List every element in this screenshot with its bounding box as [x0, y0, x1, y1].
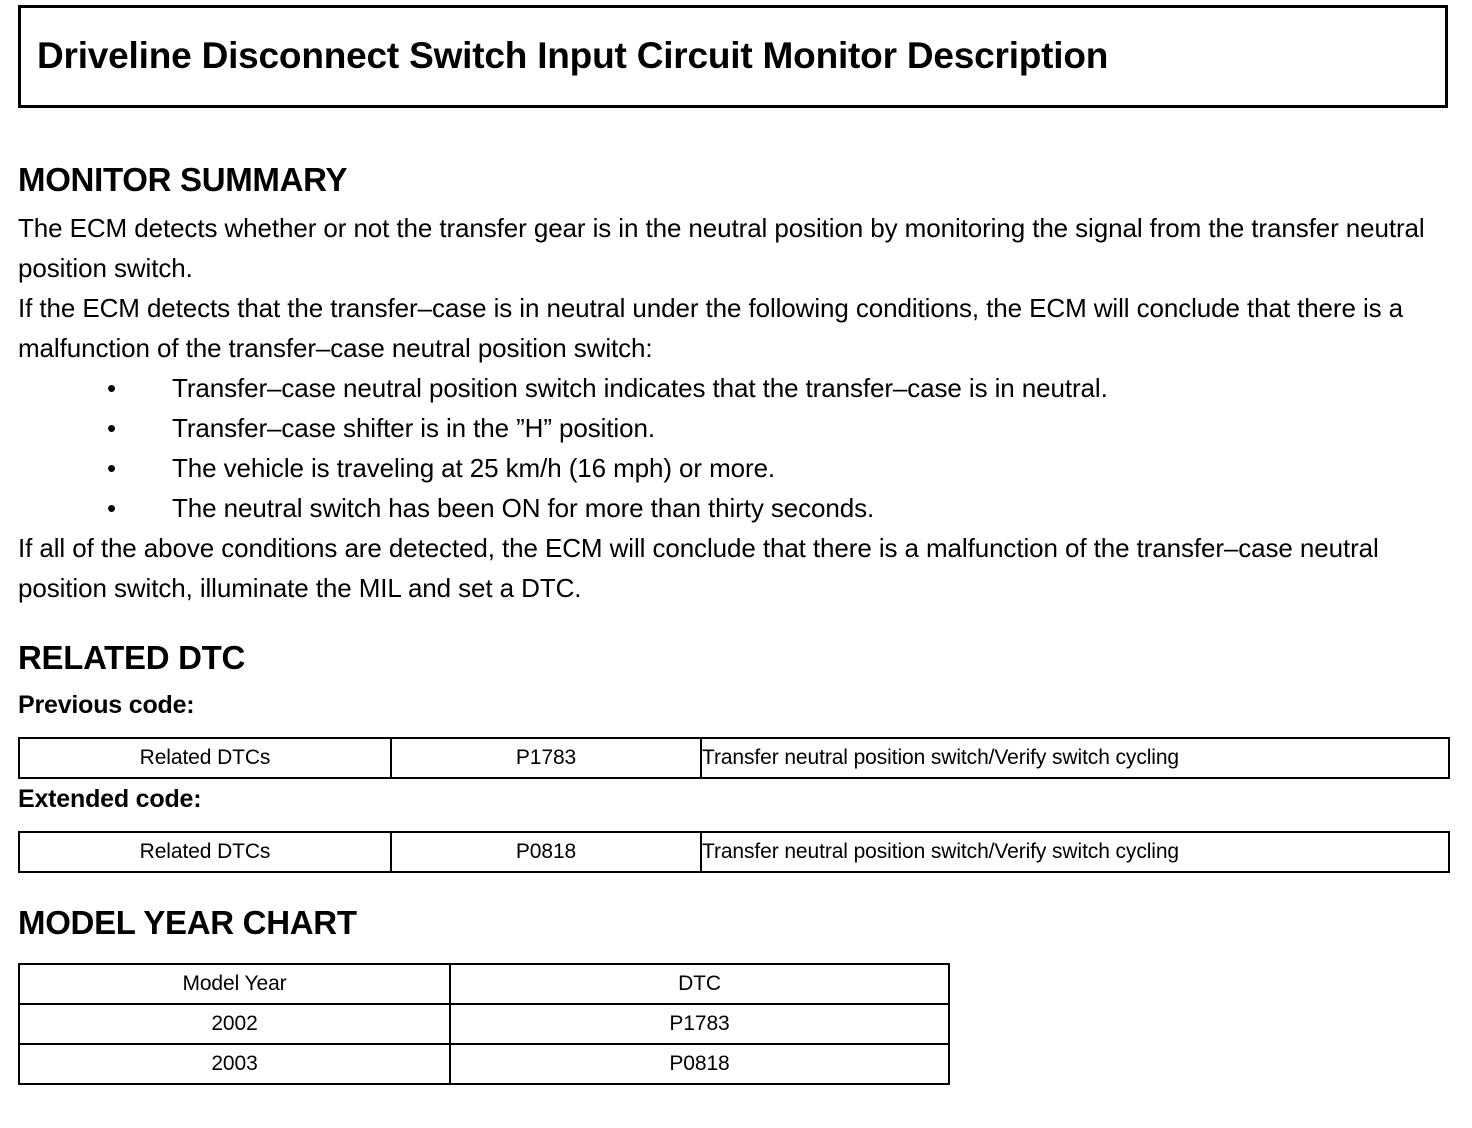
list-item-label: Transfer–case shifter is in the ”H” posi… — [172, 413, 655, 443]
list-item: • Transfer–case neutral position switch … — [18, 368, 1452, 408]
table-row: Related DTCs P1783 Transfer neutral posi… — [19, 738, 1449, 778]
bullet-icon: • — [107, 488, 116, 528]
table-row: Related DTCs P0818 Transfer neutral posi… — [19, 832, 1449, 872]
cell-dtc-code: P0818 — [391, 832, 701, 872]
monitor-summary-paragraph-2: If the ECM detects that the transfer–cas… — [18, 288, 1452, 368]
cell-dtc-description: Transfer neutral position switch/Verify … — [701, 738, 1449, 778]
list-item: • The vehicle is traveling at 25 km/h (1… — [18, 448, 1452, 488]
table-row: 2003 P0818 — [19, 1044, 949, 1084]
list-item-label: Transfer–case neutral position switch in… — [172, 373, 1108, 403]
cell-model-year: 2003 — [19, 1044, 450, 1084]
list-item: • Transfer–case shifter is in the ”H” po… — [18, 408, 1452, 448]
page-title: Driveline Disconnect Switch Input Circui… — [21, 36, 1108, 77]
monitor-summary-paragraph-1: The ECM detects whether or not the trans… — [18, 208, 1452, 288]
list-item-label: The neutral switch has been ON for more … — [172, 493, 874, 523]
cell-dtc-code: P1783 — [391, 738, 701, 778]
list-item-label: The vehicle is traveling at 25 km/h (16 … — [172, 453, 775, 483]
table-header-row: Model Year DTC — [19, 964, 949, 1004]
cell-dtc-description: Transfer neutral position switch/Verify … — [701, 832, 1449, 872]
monitor-summary-paragraph-3: If all of the above conditions are detec… — [18, 528, 1452, 608]
cell-dtc: P1783 — [450, 1004, 949, 1044]
heading-model-year-chart: MODEL YEAR CHART — [18, 906, 357, 939]
label-extended-code: Extended code: — [18, 787, 201, 812]
document-title-box: Driveline Disconnect Switch Input Circui… — [18, 5, 1448, 108]
heading-monitor-summary: MONITOR SUMMARY — [18, 163, 347, 196]
heading-related-dtc: RELATED DTC — [18, 641, 245, 674]
cell-dtc: P0818 — [450, 1044, 949, 1084]
table-row: 2002 P1783 — [19, 1004, 949, 1044]
cell-related-dtcs-label: Related DTCs — [19, 832, 391, 872]
bullet-icon: • — [107, 408, 116, 448]
document-page: Driveline Disconnect Switch Input Circui… — [0, 0, 1472, 1128]
previous-code-table: Related DTCs P1783 Transfer neutral posi… — [18, 737, 1450, 779]
monitor-summary-conditions-list: • Transfer–case neutral position switch … — [18, 368, 1452, 528]
extended-code-table: Related DTCs P0818 Transfer neutral posi… — [18, 831, 1450, 873]
list-item: • The neutral switch has been ON for mor… — [18, 488, 1452, 528]
cell-model-year: 2002 — [19, 1004, 450, 1044]
column-header-model-year: Model Year — [19, 964, 450, 1004]
model-year-chart-table: Model Year DTC 2002 P1783 2003 P0818 — [18, 963, 950, 1085]
label-previous-code: Previous code: — [18, 693, 194, 718]
column-header-dtc: DTC — [450, 964, 949, 1004]
bullet-icon: • — [107, 368, 116, 408]
cell-related-dtcs-label: Related DTCs — [19, 738, 391, 778]
bullet-icon: • — [107, 448, 116, 488]
